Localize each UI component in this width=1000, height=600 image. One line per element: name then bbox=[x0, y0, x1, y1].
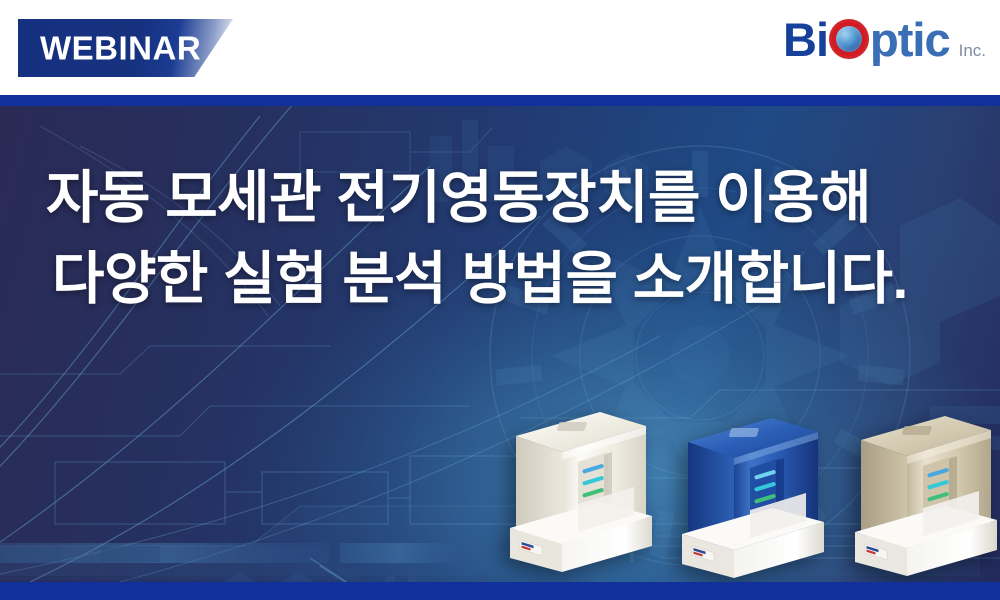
instrument-beige bbox=[845, 404, 1000, 582]
logo-text-ptic: ptic bbox=[870, 16, 950, 63]
globe-meridians bbox=[836, 26, 862, 52]
globe-o-icon bbox=[829, 19, 869, 59]
logo-text-inc: Inc. bbox=[959, 42, 986, 59]
webinar-badge: WEBINAR bbox=[18, 19, 233, 77]
headline-line-2: 다양한 실험 분석 방법을 소개합니다. bbox=[46, 239, 926, 320]
bioptic-logo: Bi ptic Inc. bbox=[783, 16, 986, 78]
logo-text-bi: Bi bbox=[783, 16, 828, 63]
instrument-blue bbox=[672, 406, 832, 582]
webinar-banner: WEBINAR Bi ptic Inc. bbox=[0, 0, 1000, 600]
bioptic-logo-wordmark: Bi ptic bbox=[783, 16, 950, 63]
instrument-white bbox=[500, 400, 660, 580]
hero-section: 자동 모세관 전기영동장치를 이용해 다양한 실험 분석 방법을 소개합니다. bbox=[0, 106, 1000, 582]
banner-header: WEBINAR Bi ptic Inc. bbox=[0, 0, 1000, 95]
headline-line-1: 자동 모세관 전기영동장치를 이용해 bbox=[46, 158, 926, 239]
footer-bar bbox=[0, 582, 1000, 600]
webinar-badge-label: WEBINAR bbox=[40, 32, 201, 65]
hero-headline: 자동 모세관 전기영동장치를 이용해 다양한 실험 분석 방법을 소개합니다. bbox=[46, 158, 926, 320]
header-divider-bar bbox=[0, 95, 1000, 106]
